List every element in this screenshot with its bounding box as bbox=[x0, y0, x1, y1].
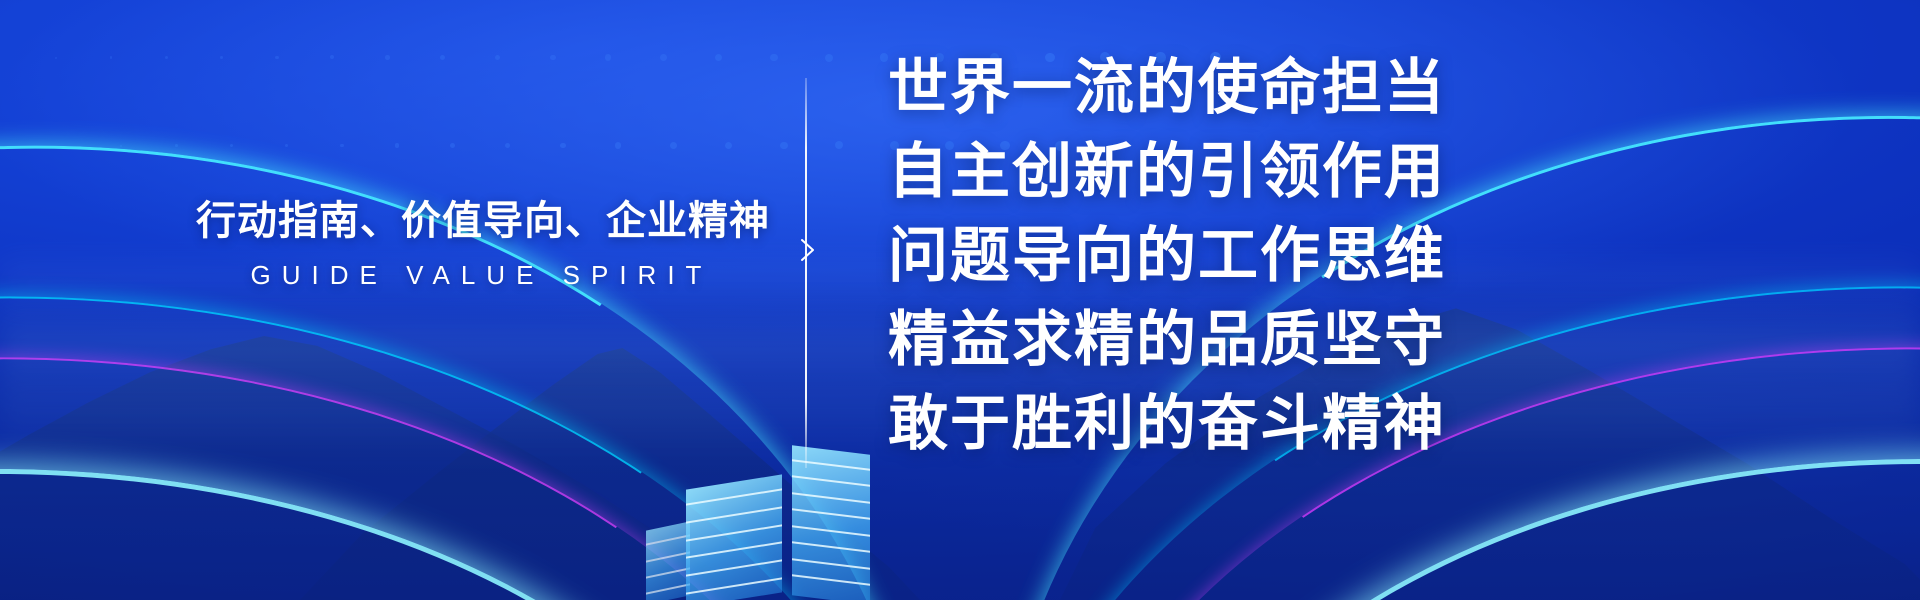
right-line-3: 问题导向的工作思维 bbox=[888, 214, 1446, 298]
left-subtitle: GUIDE VALUE SPIRIT bbox=[196, 260, 756, 291]
banner-content: 行动指南、价值导向、企业精神 GUIDE VALUE SPIRIT 世界一流的使… bbox=[0, 0, 1920, 600]
right-line-2: 自主创新的引领作用 bbox=[888, 130, 1446, 214]
right-line-1: 世界一流的使命担当 bbox=[888, 46, 1446, 130]
vertical-divider bbox=[805, 78, 807, 468]
right-line-5: 敢于胜利的奋斗精神 bbox=[888, 382, 1446, 466]
chevron-right-icon bbox=[800, 238, 816, 262]
right-text-block: 世界一流的使命担当 自主创新的引领作用 问题导向的工作思维 精益求精的品质坚守 … bbox=[888, 46, 1446, 466]
left-title: 行动指南、价值导向、企业精神 bbox=[196, 198, 756, 244]
left-text-block: 行动指南、价值导向、企业精神 GUIDE VALUE SPIRIT bbox=[196, 198, 756, 291]
right-line-4: 精益求精的品质坚守 bbox=[888, 298, 1446, 382]
culture-banner: 行动指南、价值导向、企业精神 GUIDE VALUE SPIRIT 世界一流的使… bbox=[0, 0, 1920, 600]
